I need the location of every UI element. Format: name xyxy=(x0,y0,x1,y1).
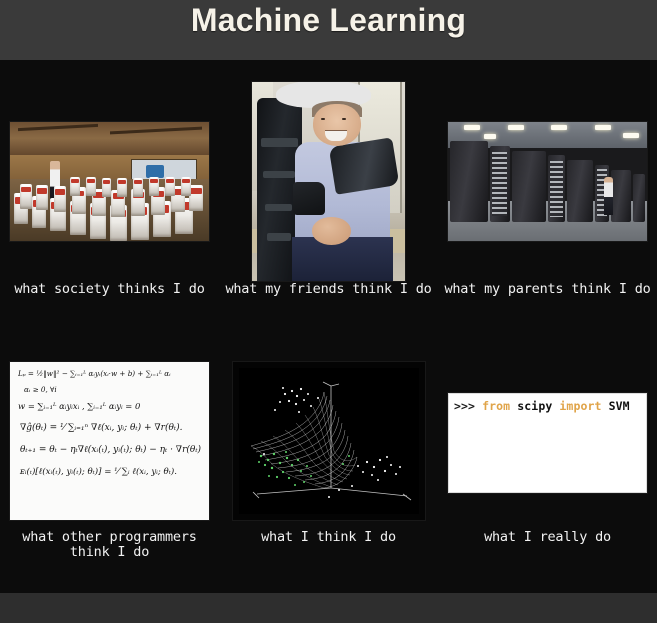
code-statement: >>> from scipy import SVM xyxy=(454,399,630,413)
keyword-import: import xyxy=(559,399,601,413)
python-prompt: >>> xyxy=(454,399,482,413)
panel-cell-parents: what my parents think I do xyxy=(438,60,657,345)
equation-list: Lₚ = ½‖w‖² − ∑ᵢ₌₁ᴸ αᵢyᵢ(xᵢ·w + b) + ∑ᵢ₌₁… xyxy=(10,362,209,520)
panel-row-bottom: Lₚ = ½‖w‖² − ∑ᵢ₌₁ᴸ αᵢyᵢ(xᵢ·w + b) + ∑ᵢ₌₁… xyxy=(0,345,657,593)
equation-line: ᴇᵢ(ₜ)[ℓ(xᵢ(ₜ), yᵢ(ₜ); θₜ)] = ⅟ ∑ᵢ ℓ(xᵢ, … xyxy=(18,466,201,477)
panel-cell-friends: what my friends think I do xyxy=(219,60,438,345)
keyword-from: from xyxy=(482,399,510,413)
panel-cell-i-really-do: >>> from scipy import SVM what I really … xyxy=(438,345,657,593)
caption-society: what society thinks I do xyxy=(0,282,219,297)
panel-cell-society: what society thinks I do xyxy=(0,60,219,345)
equation-line: ∇ĝ(θₜ) = ⅟ ∑ᵢ₌₁ⁿ ∇ℓ(xᵢ, yᵢ; θₜ) + ∇r(θₜ)… xyxy=(18,422,201,433)
plot-canvas xyxy=(239,368,419,514)
svm-equations-sheet-image: Lₚ = ½‖w‖² − ∑ᵢ₌₁ᴸ αᵢyᵢ(xᵢ·w + b) + ∑ᵢ₌₁… xyxy=(10,362,209,520)
caption-other-programmers: what other programmers think I do xyxy=(0,530,219,560)
page-title: Machine Learning xyxy=(0,2,657,39)
python-console-window: >>> from scipy import SVM xyxy=(448,393,647,493)
symbol-name-svm: SVM xyxy=(602,399,630,413)
panel-cell-other-programmers: Lₚ = ½‖w‖² − ∑ᵢ₌₁ᴸ αᵢyᵢ(xᵢ·w + b) + ∑ᵢ₌₁… xyxy=(0,345,219,593)
svm-hyperplane-plot-image xyxy=(233,362,425,520)
robot-hand xyxy=(293,182,325,216)
man-trousers xyxy=(292,237,393,281)
meme-image: Machine Learning xyxy=(0,0,657,623)
auditorium-of-humanoid-robots-image xyxy=(10,122,209,241)
equation-line: Lₚ = ½‖w‖² − ∑ᵢ₌₁ᴸ αᵢyᵢ(xᵢ·w + b) + ∑ᵢ₌₁… xyxy=(18,369,201,378)
equation-line: θₜ₊₁ = θₜ − ηₜ∇ℓ(xᵢ(ₜ), yᵢ(ₜ); θₜ) − ηₜ … xyxy=(18,444,201,455)
man-smile xyxy=(325,130,346,141)
caption-i-really-do: what I really do xyxy=(438,530,657,545)
panel-grid: what society thinks I do xyxy=(0,60,657,593)
supercomputer-server-room-image xyxy=(448,122,647,241)
caption-friends: what my friends think I do xyxy=(219,282,438,297)
equation-line: w = ∑ᵢ₌₁ᴸ αᵢyᵢxᵢ , ∑ᵢ₌₁ᴸ αᵢyᵢ = 0 xyxy=(18,401,201,411)
panel-cell-i-think: what I think I do xyxy=(219,345,438,593)
caption-parents: what my parents think I do xyxy=(438,282,657,297)
panel-row-top: what society thinks I do xyxy=(0,60,657,345)
footer-band xyxy=(0,593,657,623)
plot-vector-graphic xyxy=(239,368,419,514)
caption-i-think: what I think I do xyxy=(219,530,438,545)
equation-line: αᵢ ≥ 0, ∀i xyxy=(18,385,201,394)
server-room-technician xyxy=(604,177,613,215)
man-with-robot-arm-image xyxy=(252,82,405,281)
module-name-scipy: scipy xyxy=(510,399,559,413)
